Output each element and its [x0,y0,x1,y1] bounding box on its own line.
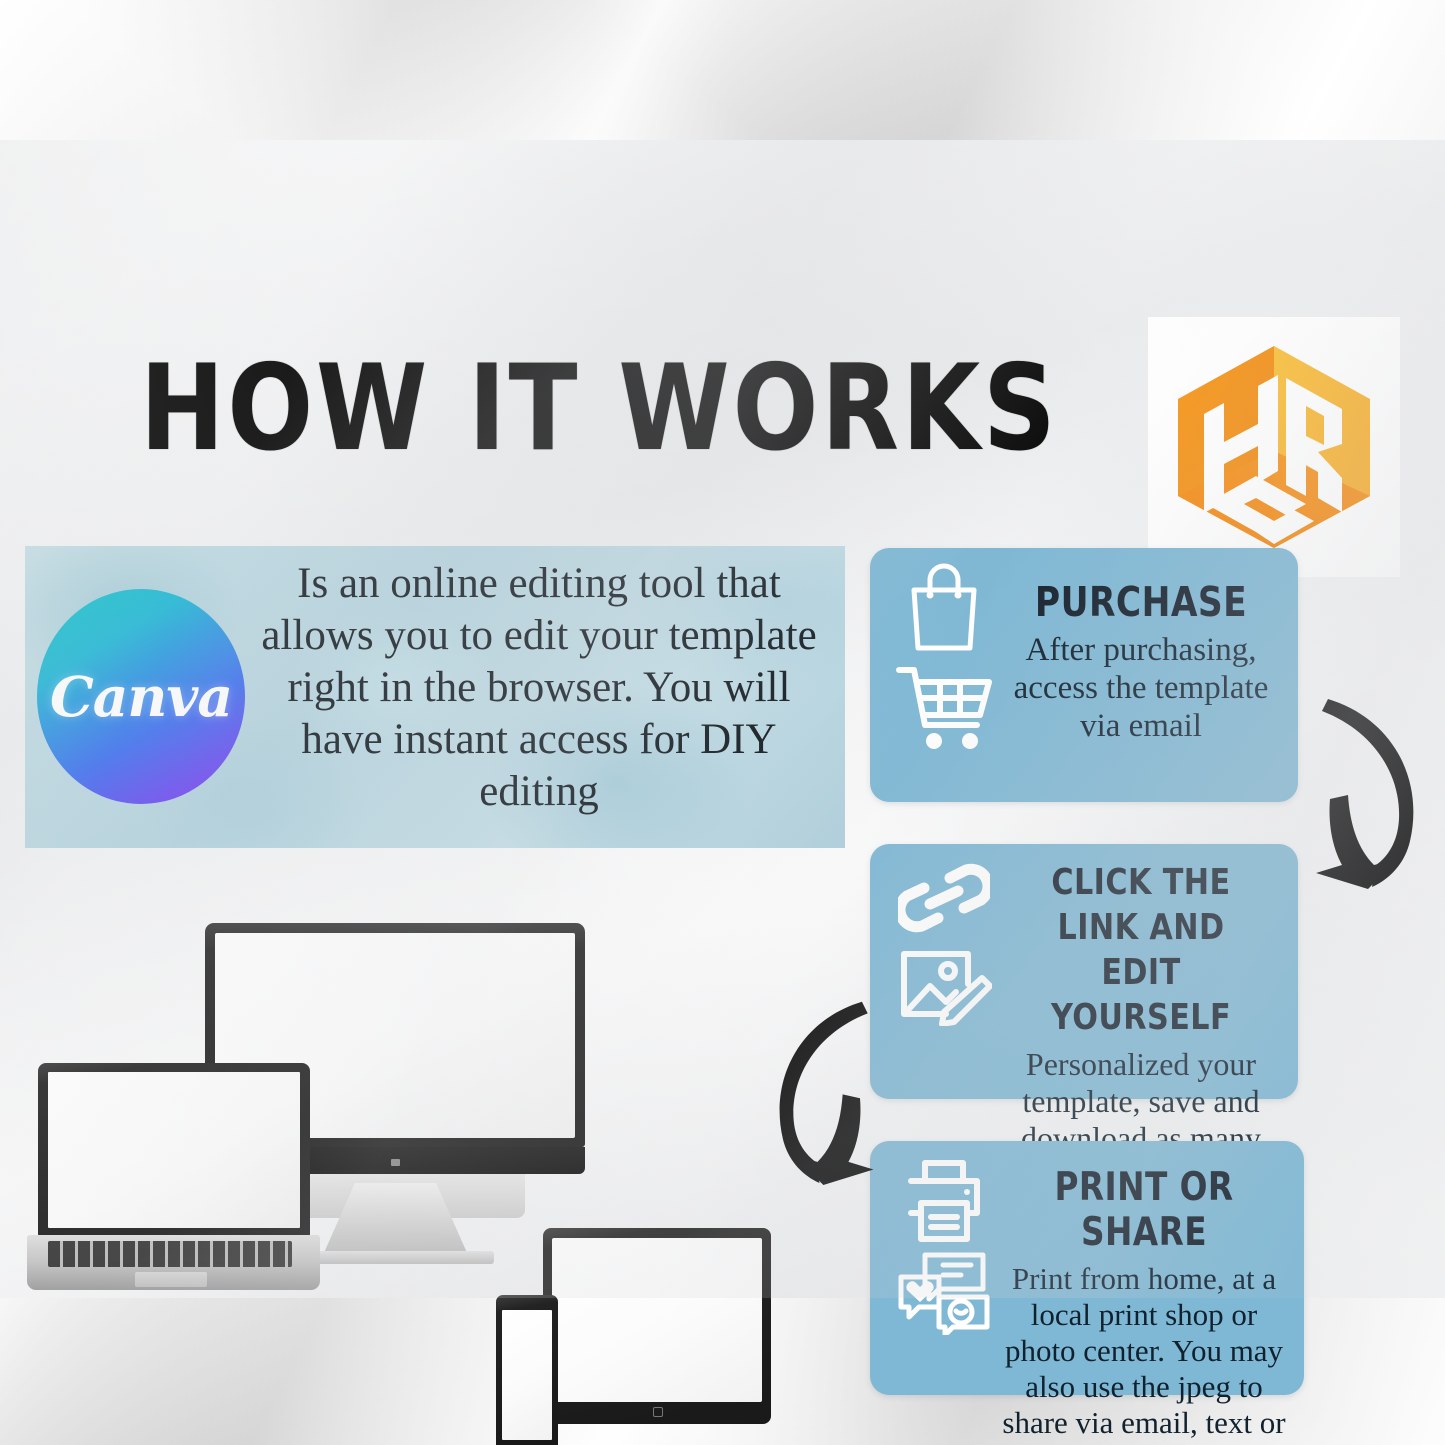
hrc-cube-logo-icon [1166,336,1382,558]
printer-icon [901,1155,987,1245]
brand-logo-box [1148,317,1400,577]
step-card-purchase[interactable]: PURCHASE After purchasing, access the te… [870,548,1298,802]
step-2-heading: CLICK THE LINK AND EDIT YOURSELF [1016,854,1266,1040]
step-1-body: PURCHASE After purchasing, access the te… [992,558,1290,745]
arrow-step2-to-step3 [752,985,887,1200]
step-3-description: Print from home, at a local print shop o… [992,1261,1296,1445]
step-2-icons [886,858,1001,1026]
arrow-step1-to-step2 [1302,683,1442,903]
step-card-click-edit[interactable]: CLICK THE LINK AND EDIT YOURSELF Persona… [870,844,1298,1099]
phone-screen [502,1310,552,1440]
shopping-bag-icon [905,562,983,654]
smartphone [496,1295,558,1445]
image-edit-icon [896,944,992,1026]
laptop-trackpad [135,1272,207,1287]
laptop [38,1063,310,1236]
how-it-works-poster: HOW IT WORKS [0,0,1445,1445]
shopping-cart-icon [894,660,994,752]
step-1-heading: PURCHASE [1016,558,1266,625]
step-3-icons [886,1155,1001,1335]
canva-description: Is an online editing tool that allows yo… [245,558,833,818]
step-1-description: After purchasing, access the template vi… [992,631,1290,745]
laptop-screen [48,1072,300,1228]
canva-logo-icon: Canva [37,589,245,804]
canva-wordmark: Canva [50,664,232,729]
chain-link-icon [898,858,990,938]
tablet-screen [552,1238,762,1402]
inner-content-panel: HOW IT WORKS [0,140,1445,1298]
curved-arrow-down-right-icon [752,985,887,1195]
monitor-base [298,1251,494,1264]
laptop-keyboard [48,1241,292,1267]
chat-bubbles-icon [895,1251,993,1335]
page-title: HOW IT WORKS [140,345,877,470]
canva-info-banner: Canva Is an online editing tool that all… [25,546,845,848]
step-3-heading: PRINT OR SHARE [1016,1151,1271,1255]
tablet [543,1228,771,1424]
step-card-print-share[interactable]: PRINT OR SHARE Print from home, at a loc… [870,1141,1304,1395]
curved-arrow-down-left-icon [1302,683,1442,898]
step-3-body: PRINT OR SHARE Print from home, at a loc… [992,1151,1296,1445]
devices-mockup-image [30,915,790,1330]
step-1-icons [886,562,1001,752]
